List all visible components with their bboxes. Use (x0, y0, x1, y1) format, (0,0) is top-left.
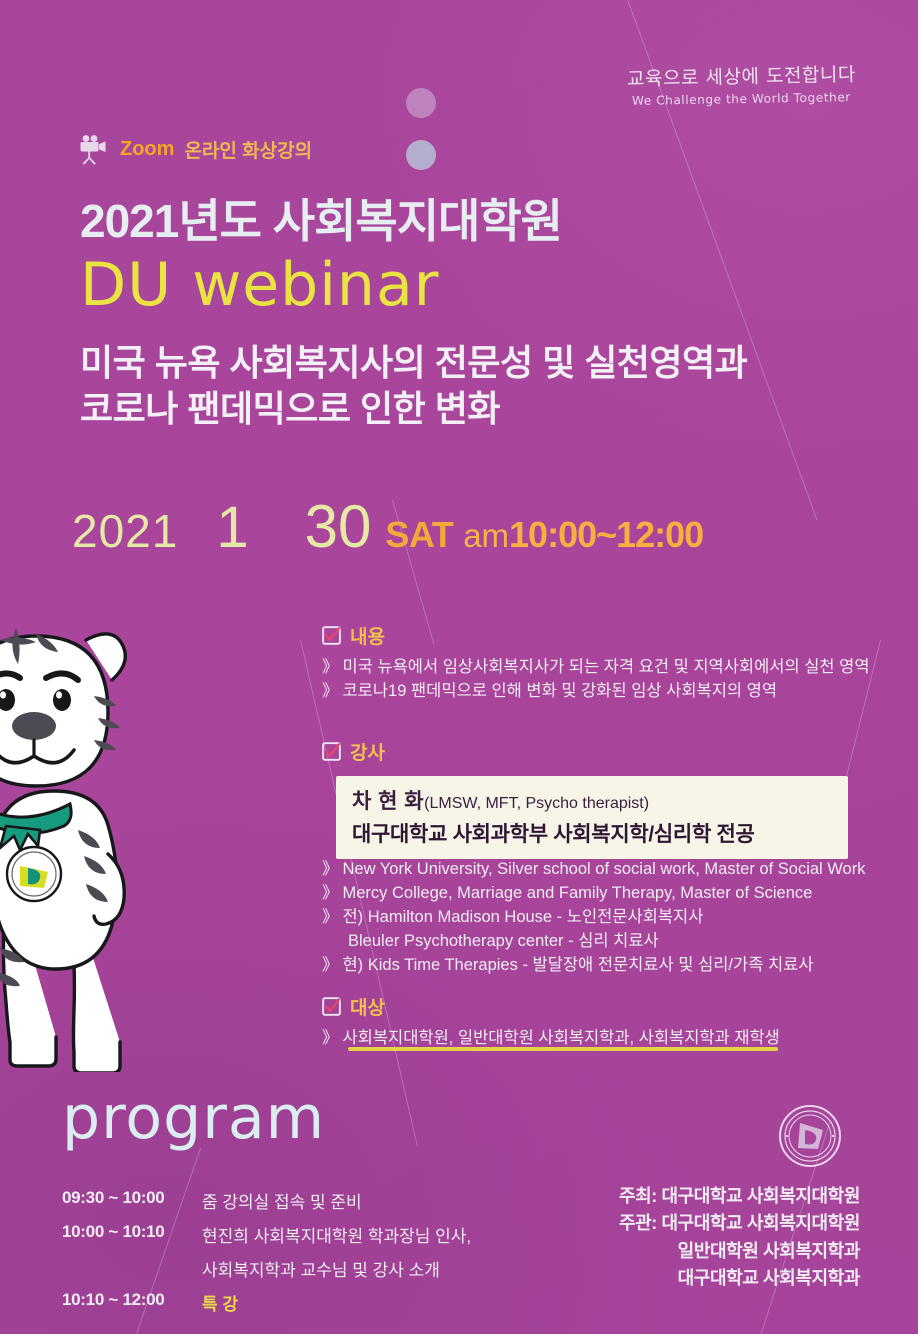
speaker-credential-list: 》 New York University, Silver school of … (322, 851, 865, 978)
video-camera-icon (76, 132, 110, 166)
schedule-description: 현진희 사회복지대학원 학과장님 인사, (202, 1222, 471, 1247)
checkbox-checked-icon (322, 742, 341, 761)
organizer-line: 주최: 대구대학교 사회복지대학원 (619, 1183, 860, 1210)
section-title: 내용 (350, 622, 385, 649)
platform-name: Zoom (120, 138, 174, 161)
speaker-info-card: 차 현 화(LMSW, MFT, Psycho therapist) 대구대학교… (336, 776, 848, 859)
event-day: 30 (305, 492, 372, 561)
schedule-row: 10:00 ~ 10:10 현진희 사회복지대학원 학과장님 인사, (62, 1222, 471, 1247)
university-seal-icon (778, 1104, 842, 1168)
schedule-description: 줌 강의실 접속 및 준비 (202, 1188, 362, 1213)
schedule-description: 사회복지학과 교수님 및 강사 소개 (202, 1256, 440, 1281)
bullet-item: 》 New York University, Silver school of … (322, 858, 865, 882)
speaker-credentials: (LMSW, MFT, Psycho therapist) (424, 795, 649, 812)
bullet-text: 현) Kids Time Therapies - 발달장애 전문치료사 및 심리… (343, 954, 814, 978)
event-month: 1 (216, 494, 248, 561)
program-heading: program (62, 1083, 325, 1153)
section-bullets: 》 미국 뉴욕에서 임상사회복지사가 되는 자격 요건 및 지역사회에서의 실천… (322, 656, 870, 704)
bullet-text: New York University, Silver school of so… (343, 858, 866, 882)
bullet-marker: 》 (322, 656, 339, 680)
page-title-line2: DU webinar (80, 250, 439, 320)
slogan-korean: 교육으로 세상에 도전합니다 (627, 60, 856, 92)
organizer-line: 대구대학교 사회복지학과 (619, 1265, 860, 1292)
schedule-row: 09:30 ~ 10:00 줌 강의실 접속 및 준비 (62, 1188, 471, 1213)
bullet-marker: 》 (322, 906, 339, 930)
speaker-affiliation: 대구대학교 사회과학부 사회복지학/심리학 전공 (352, 818, 832, 848)
bullet-item: 》 코로나19 팬데믹으로 인해 변화 및 강화된 임상 사회복지의 영역 (322, 680, 870, 704)
bullet-item: Bleuler Psychotherapy center - 심리 치료사 (322, 930, 865, 954)
organizer-block: 주최: 대구대학교 사회복지대학원 주관: 대구대학교 사회복지대학원 일반대학… (619, 1183, 860, 1292)
checkbox-checked-icon (322, 626, 341, 645)
bullet-item: 》 미국 뉴욕에서 임상사회복지사가 되는 자격 요건 및 지역사회에서의 실천… (322, 656, 870, 680)
bullet-text: 미국 뉴욕에서 임상사회복지사가 되는 자격 요건 및 지역사회에서의 실천 영… (343, 656, 870, 680)
page-title-line1: 2021년도 사회복지대학원 (80, 185, 562, 251)
schedule-row: 10:10 ~ 12:00 특 강 (62, 1290, 471, 1315)
schedule-time: 10:00 ~ 10:10 (62, 1222, 202, 1247)
white-tiger-mascot (0, 622, 205, 1072)
section-header: 대상 (322, 993, 780, 1020)
section-content: 내용 》 미국 뉴욕에서 임상사회복지사가 되는 자격 요건 및 지역사회에서의… (322, 622, 870, 704)
event-datetime: 2021 1 30 SAT am 10:00~12:00 (72, 492, 703, 561)
bullet-item: 》 Mercy College, Marriage and Family The… (322, 882, 865, 906)
bullet-text: 코로나19 팬데믹으로 인해 변화 및 강화된 임상 사회복지의 영역 (343, 680, 778, 704)
bullet-marker: 》 (322, 1027, 339, 1051)
bullet-marker: 》 (322, 858, 339, 882)
schedule-row: 사회복지학과 교수님 및 강사 소개 (62, 1256, 471, 1281)
section-audience: 대상 》 사회복지대학원, 일반대학원 사회복지학과, 사회복지학과 재학생 (322, 993, 780, 1051)
event-meridiem: am (463, 517, 509, 555)
event-year: 2021 (72, 504, 178, 558)
subtitle-line1: 미국 뉴욕 사회복지사의 전문성 및 실천영역과 (80, 340, 747, 386)
section-bullets: 》 New York University, Silver school of … (322, 858, 865, 978)
bullet-marker: 》 (322, 882, 339, 906)
checkbox-checked-icon (322, 997, 341, 1016)
speaker-name-row: 차 현 화(LMSW, MFT, Psycho therapist) (352, 785, 832, 815)
platform-description: 온라인 화상강의 (184, 136, 312, 163)
subtitle-line2: 코로나 팬데믹으로 인한 변화 (80, 386, 747, 432)
schedule-time: 10:10 ~ 12:00 (62, 1290, 202, 1315)
poster-root: 교육으로 세상에 도전합니다 We Challenge the World To… (0, 0, 918, 1334)
section-title: 강사 (350, 738, 385, 765)
section-header: 내용 (322, 622, 870, 649)
schedule-time: 09:30 ~ 10:00 (62, 1188, 202, 1213)
organizer-line: 일반대학원 사회복지학과 (619, 1238, 860, 1265)
speaker-name: 차 현 화 (352, 790, 424, 813)
bullet-text: 전) Hamilton Madison House - 노인전문사회복지사 (343, 906, 704, 930)
bullet-text: Mercy College, Marriage and Family Thera… (343, 882, 813, 906)
bullet-item: 》 현) Kids Time Therapies - 발달장애 전문치료사 및 … (322, 954, 865, 978)
slogan-english: We Challenge the World Together (627, 90, 856, 108)
brand-slogan: 교육으로 세상에 도전합니다 We Challenge the World To… (627, 62, 856, 106)
bullet-marker: 》 (322, 680, 339, 704)
section-header: 강사 (322, 738, 385, 765)
bullet-marker: 》 (322, 954, 339, 978)
decorative-dot (406, 140, 436, 170)
audience-highlight-underline (348, 1047, 778, 1051)
bullet-text: Bleuler Psychotherapy center - 심리 치료사 (348, 930, 659, 954)
event-weekday: SAT (385, 514, 453, 556)
schedule-description: 특 강 (202, 1290, 238, 1315)
page-subtitle: 미국 뉴욕 사회복지사의 전문성 및 실천영역과 코로나 팬데믹으로 인한 변화 (80, 340, 747, 432)
section-speaker: 강사 (322, 738, 385, 765)
bullet-item: 》 전) Hamilton Madison House - 노인전문사회복지사 (322, 906, 865, 930)
program-schedule: 09:30 ~ 10:00 줌 강의실 접속 및 준비 10:00 ~ 10:1… (62, 1188, 471, 1324)
platform-label-row: Zoom 온라인 화상강의 (76, 132, 312, 166)
decorative-dot (406, 88, 436, 118)
section-title: 대상 (350, 993, 385, 1020)
event-time-range: 10:00~12:00 (509, 514, 703, 556)
organizer-line: 주관: 대구대학교 사회복지대학원 (619, 1210, 860, 1237)
